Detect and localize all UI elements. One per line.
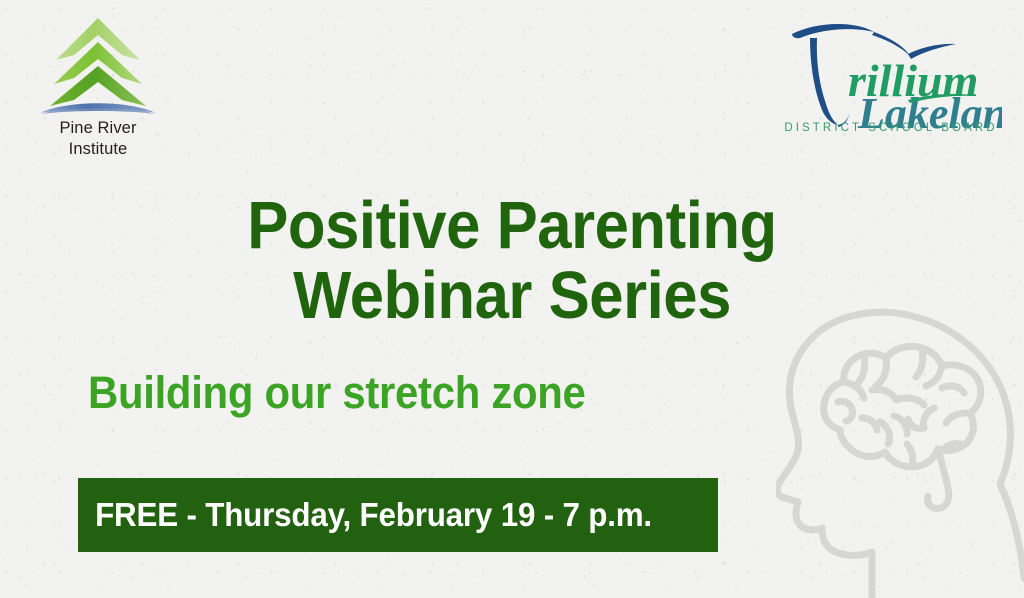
page-title-line-1: Positive Parenting [41, 191, 983, 261]
event-date-banner: FREE - Thursday, February 19 - 7 p.m. [78, 478, 718, 552]
trillium-lakelands-logo: rillium Lakelands DISTRICT SCHOOL BOARD [780, 18, 1002, 140]
page-title-line-2: Webinar Series [41, 261, 983, 331]
poster-canvas: Pine River Institute rillium Lakelands D… [0, 0, 1024, 598]
pine-river-institute-wordmark: Pine River Institute [22, 118, 174, 160]
event-date-text: FREE - Thursday, February 19 - 7 p.m. [78, 496, 652, 534]
page-title: Positive Parenting Webinar Series [41, 191, 983, 330]
district-school-board-tagline: DISTRICT SCHOOL BOARD [784, 122, 997, 134]
pri-wordmark-line-1: Pine River [59, 119, 136, 137]
page-subtitle: Building our stretch zone [88, 370, 586, 415]
pri-wordmark-line-2: Institute [69, 140, 128, 158]
trillium-tagline-wrap: DISTRICT SCHOOL BOARD [780, 118, 1002, 136]
pine-river-institute-logo: Pine River Institute [22, 14, 174, 164]
pine-river-tree-icon [22, 14, 174, 118]
